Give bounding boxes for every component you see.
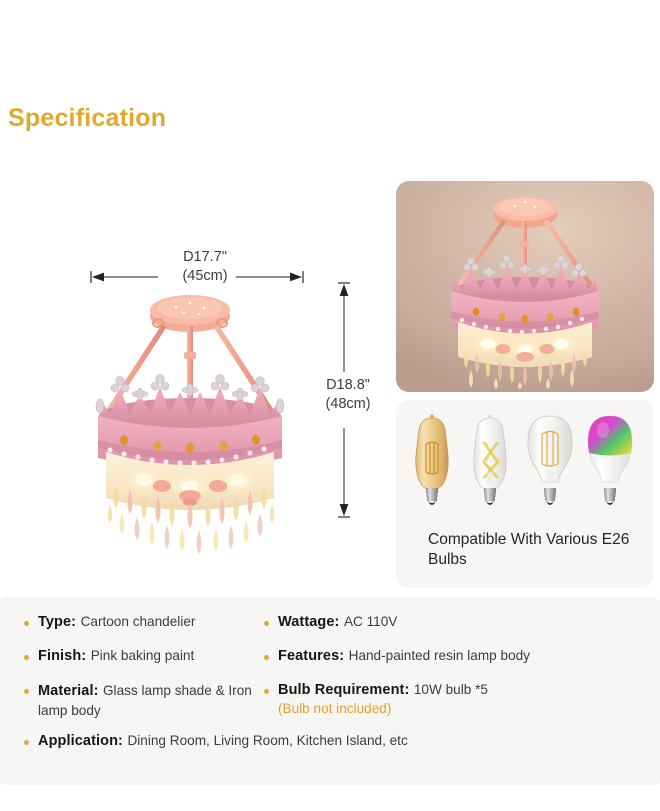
dimension-drawing-area: D17.7" (45cm) D18.8" (48cm) bbox=[0, 170, 390, 590]
bulb-illustrations bbox=[404, 408, 646, 518]
bullet-icon bbox=[24, 689, 29, 694]
spec-value-application: Dining Room, Living Room, Kitchen Island… bbox=[127, 733, 407, 748]
spec-key-bulb-requirement: Bulb Requirement: bbox=[278, 682, 409, 698]
bulb-rgb-smart bbox=[588, 416, 632, 505]
bullet-icon bbox=[24, 621, 29, 626]
spec-key-type: Type: bbox=[38, 614, 76, 630]
spec-key-features: Features: bbox=[278, 648, 344, 664]
spec-key-material: Material: bbox=[38, 683, 99, 699]
spec-item-bulb-requirement: Bulb Requirement: 10W bulb *5 (Bulb not … bbox=[262, 681, 657, 716]
spec-row-application: Application: Dining Room, Living Room, K… bbox=[22, 732, 642, 766]
spec-key-application: Application: bbox=[38, 733, 123, 749]
spec-column-right: Wattage: AC 110V Features: Hand-painted … bbox=[262, 613, 657, 732]
spec-item-type: Type: Cartoon chandelier bbox=[22, 613, 272, 631]
spec-note-bulb-not-included: (Bulb not included) bbox=[278, 701, 657, 716]
spec-value-type: Cartoon chandelier bbox=[81, 614, 196, 629]
product-photo-panel bbox=[396, 181, 654, 392]
bullet-icon bbox=[264, 689, 269, 694]
bulb-amber-st64 bbox=[416, 415, 448, 506]
width-inch-value: D17.7" bbox=[183, 249, 227, 265]
bulb-clear-st64 bbox=[474, 415, 506, 506]
chandelier-drawing bbox=[58, 290, 323, 565]
spec-item-application: Application: Dining Room, Living Room, K… bbox=[22, 732, 642, 750]
spec-value-bulb-requirement: 10W bulb *5 bbox=[414, 682, 488, 697]
spec-key-finish: Finish: bbox=[38, 648, 86, 664]
spec-value-wattage: AC 110V bbox=[344, 614, 397, 629]
spec-item-features: Features: Hand-painted resin lamp body bbox=[262, 647, 657, 665]
bulbs-caption-line1: Compatible With Various bbox=[428, 531, 597, 548]
spec-value-features: Hand-painted resin lamp body bbox=[349, 648, 530, 663]
bullet-icon bbox=[24, 740, 29, 745]
height-dimension-arrow bbox=[336, 280, 352, 520]
page-title: Specification bbox=[8, 104, 166, 133]
spec-item-material: Material: Glass lamp shade & Iron lamp b… bbox=[22, 681, 272, 722]
bulb-clear-a19 bbox=[528, 416, 572, 505]
specification-list-panel: Type: Cartoon chandelier Finish: Pink ba… bbox=[0, 597, 660, 785]
bulbs-caption: Compatible With Various E26 Bulbs bbox=[428, 530, 648, 570]
specification-page: Specification D17.7" (45cm) D18.8" (48cm… bbox=[0, 0, 660, 811]
bullet-icon bbox=[24, 655, 29, 660]
width-dimension-arrow bbox=[88, 270, 306, 284]
bullet-icon bbox=[264, 621, 269, 626]
compatible-bulbs-panel: Compatible With Various E26 Bulbs bbox=[396, 400, 654, 588]
spec-item-wattage: Wattage: AC 110V bbox=[262, 613, 657, 631]
spec-item-finish: Finish: Pink baking paint bbox=[22, 647, 272, 665]
bullet-icon bbox=[264, 655, 269, 660]
chandelier-photo bbox=[420, 189, 630, 389]
spec-key-wattage: Wattage: bbox=[278, 614, 339, 630]
spec-column-left: Type: Cartoon chandelier Finish: Pink ba… bbox=[22, 613, 272, 738]
spec-value-finish: Pink baking paint bbox=[91, 648, 195, 663]
